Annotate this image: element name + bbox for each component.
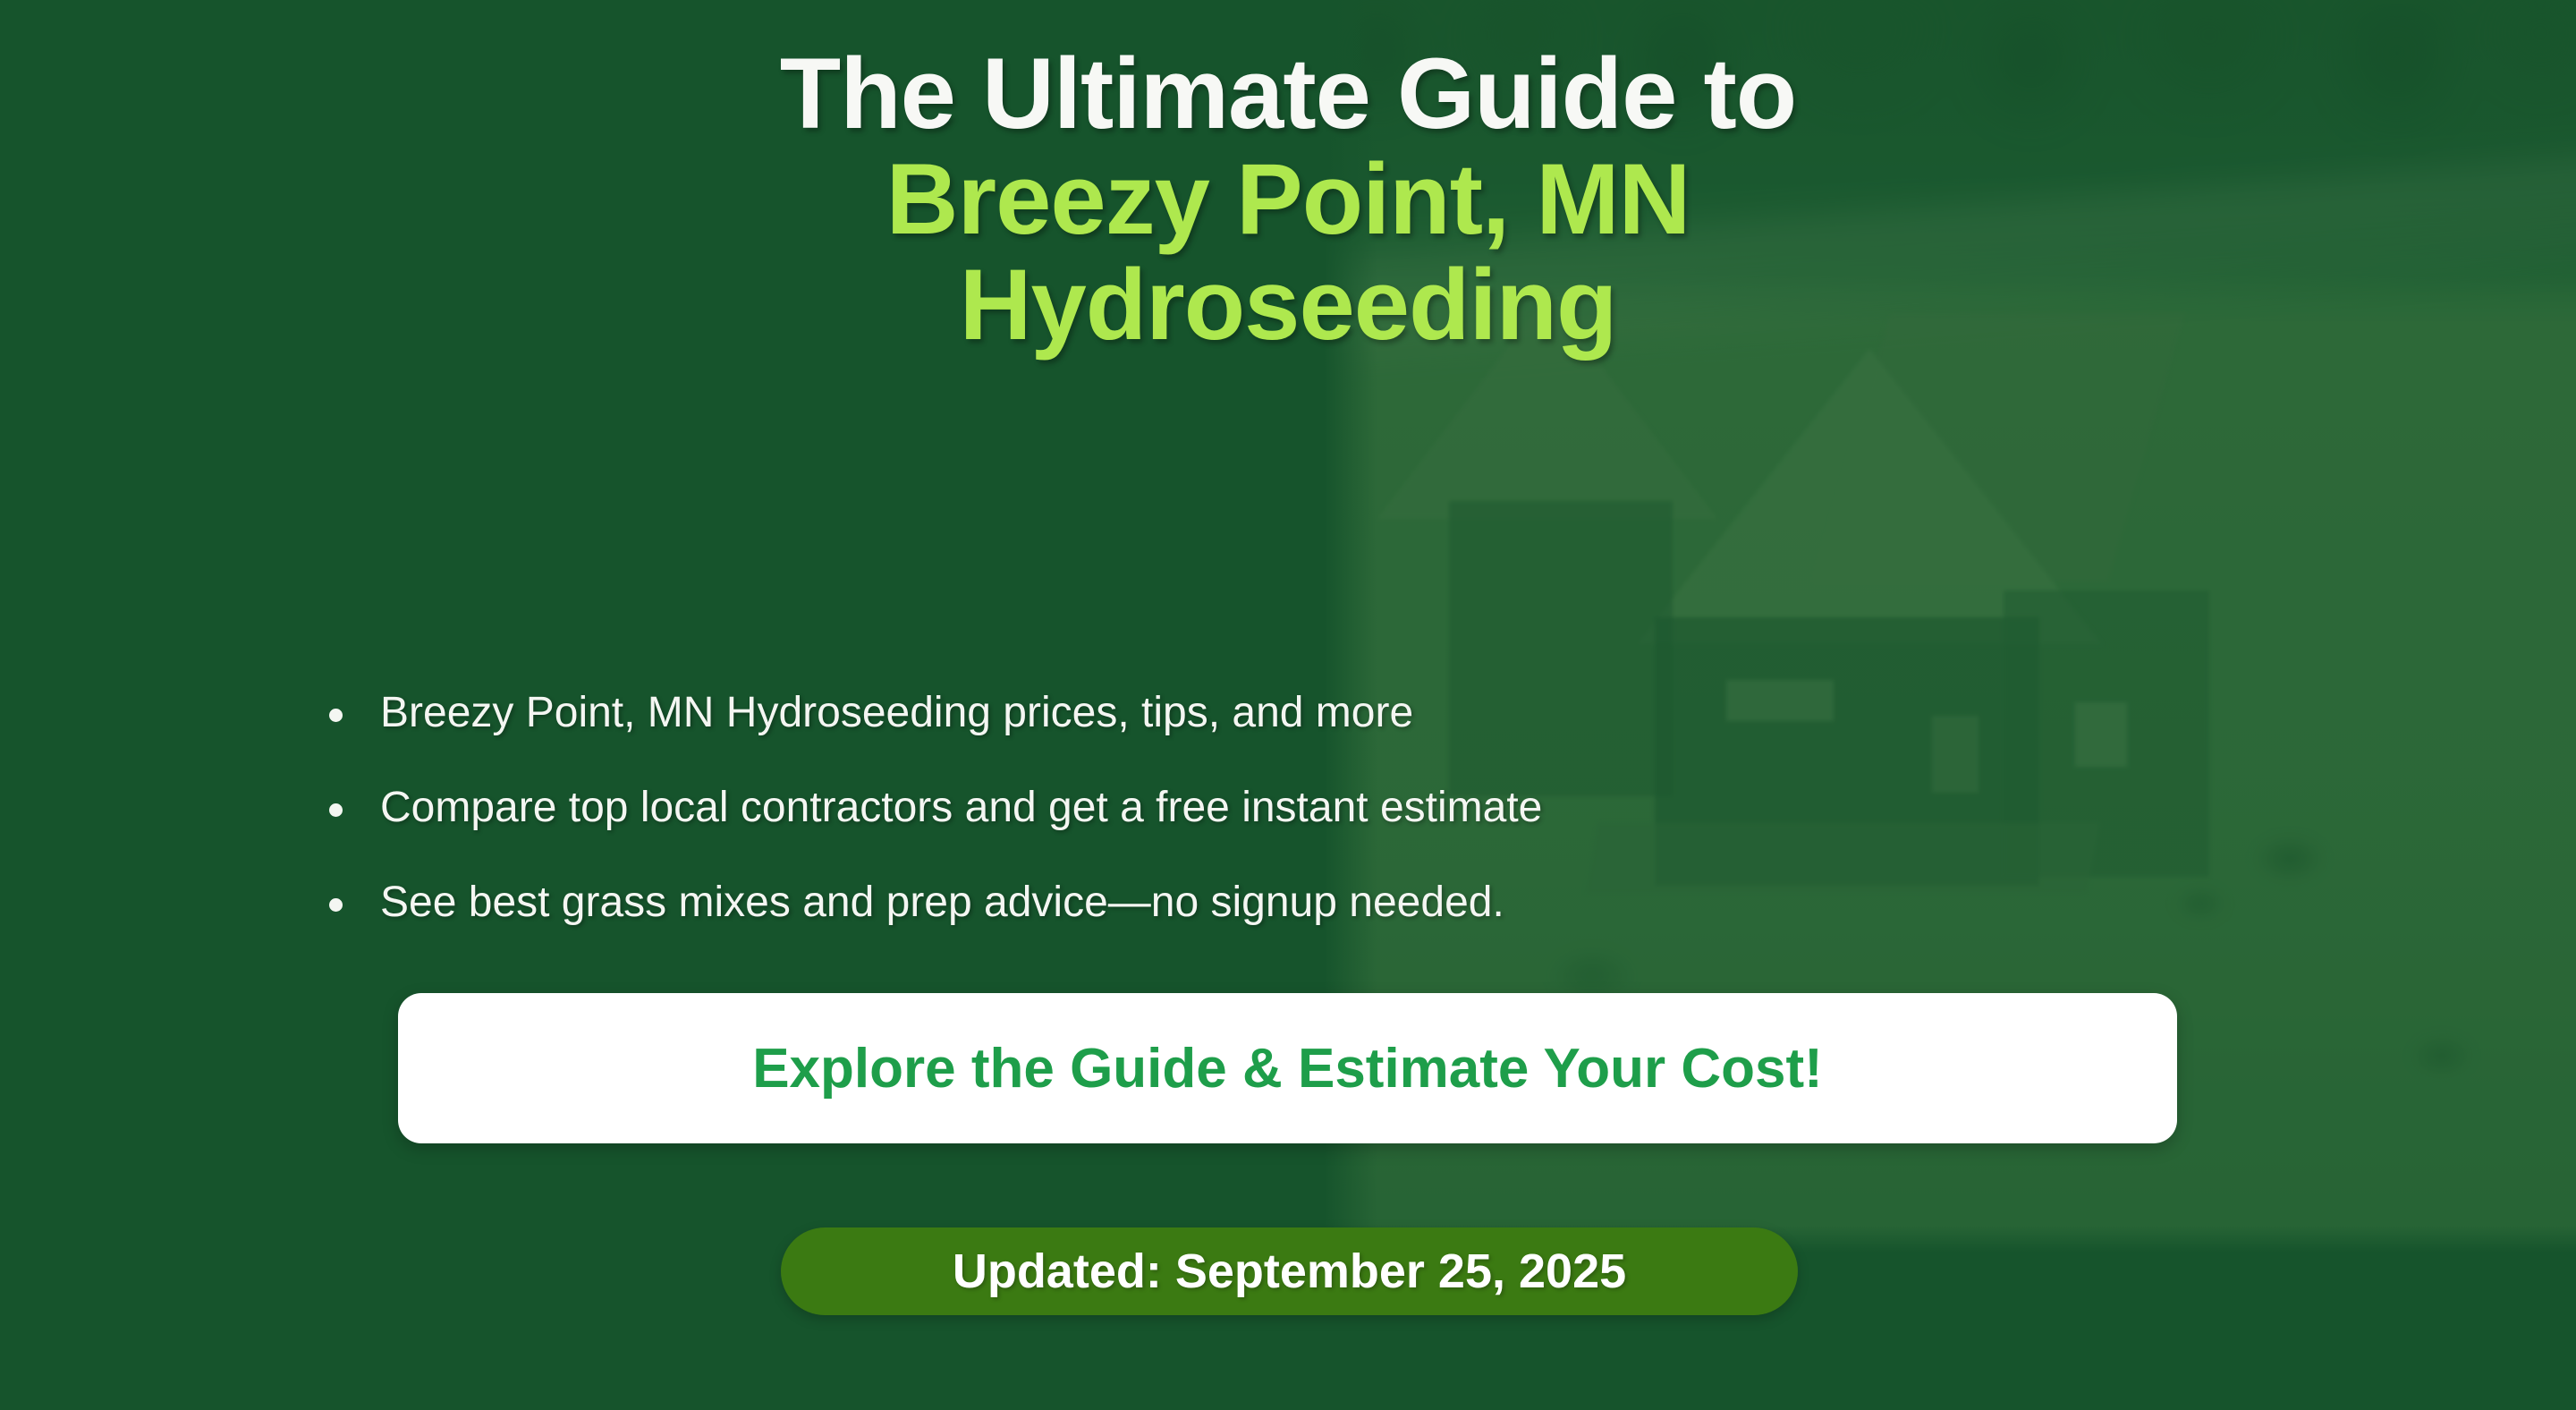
list-item: See best grass mixes and prep advice—no … [329, 877, 1542, 929]
list-item: Compare top local contractors and get a … [329, 782, 1542, 834]
bullet-dot-icon [329, 803, 343, 817]
list-item-label: Breezy Point, MN Hydroseeding prices, ti… [380, 689, 1413, 736]
bullet-dot-icon [329, 898, 343, 912]
list-item: Breezy Point, MN Hydroseeding prices, ti… [329, 687, 1542, 739]
title-line-accent: Breezy Point, MN Hydroseeding [555, 147, 2021, 358]
list-item-label: See best grass mixes and prep advice—no … [380, 879, 1504, 926]
bullet-dot-icon [329, 709, 343, 722]
last-updated-badge: Updated: September 25, 2025 [781, 1227, 1798, 1315]
hero-content: The Ultimate Guide to Breezy Point, MN H… [0, 0, 2576, 1410]
page-title: The Ultimate Guide to Breezy Point, MN H… [0, 41, 2576, 358]
benefit-list: Breezy Point, MN Hydroseeding prices, ti… [329, 687, 1542, 929]
explore-guide-button[interactable]: Explore the Guide & Estimate Your Cost! [398, 993, 2177, 1143]
hero-banner: The Ultimate Guide to Breezy Point, MN H… [0, 0, 2576, 1410]
title-line-primary: The Ultimate Guide to [0, 41, 2576, 147]
list-item-label: Compare top local contractors and get a … [380, 784, 1542, 831]
